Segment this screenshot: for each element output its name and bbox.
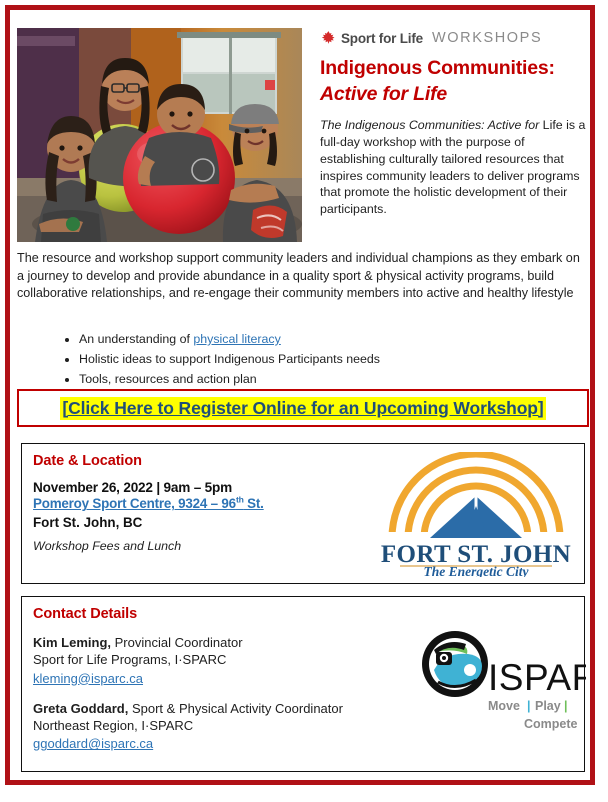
maple-leaf-icon [320,30,337,46]
intro-paragraph: The Indigenous Communities: Active for L… [320,117,592,218]
contact-role-1: Provincial Coordinator [111,635,243,650]
page-title-line2: Active for Life [320,83,592,106]
header-text-column: Sport for Life WORKSHOPS Indigenous Comm… [320,28,592,218]
isparc-wordmark: ISPARC [488,657,586,698]
header-section: Sport for Life WORKSHOPS Indigenous Comm… [17,28,587,246]
list-item: Tools, resources and action plan [79,370,580,389]
sport-for-life-logo: Sport for Life WORKSHOPS [320,28,592,48]
venue-ordinal-suffix: th [236,495,244,505]
contact-email-link-2[interactable]: ggoddard@isparc.ca [33,735,153,752]
venue-text-end: St. [244,496,264,511]
contact-name-2: Greta Goddard, [33,701,128,716]
isparc-logo: ISPARC Move | Play | Compete [418,630,586,742]
isparc-tagline-sep1: | [527,699,531,713]
intro-italic-part: The Indigenous Communities: Active for [320,118,539,132]
physical-literacy-link[interactable]: physical literacy [193,332,280,346]
venue-address-link[interactable]: Pomeroy Sport Centre, 9324 – 96th St. [33,496,264,511]
intro-rest-part: Life is a full-day workshop with the pur… [320,118,585,216]
register-banner[interactable]: [Click Here to Register Online for an Up… [17,389,589,427]
takeaways-list: An understanding of physical literacy Ho… [60,330,580,390]
sport-for-life-wordmark: Sport for Life [341,31,423,46]
photo-children-exercise-balls [17,28,302,242]
flyer-page: Sport for Life WORKSHOPS Indigenous Comm… [0,0,608,802]
bullet-text: Tools, resources and action plan [79,372,257,386]
contact-details-heading: Contact Details [33,606,584,622]
support-paragraph: The resource and workshop support commun… [17,250,589,303]
contact-name-1: Kim Leming, [33,635,111,650]
isparc-tagline-compete: Compete [524,717,578,731]
isparc-tagline-move: Move [488,699,520,713]
fort-st-john-logo: FORT ST. JOHN The Energetic City [378,452,574,577]
workshops-label: WORKSHOPS [432,30,542,46]
fsj-tagline: The Energetic City [424,564,530,577]
list-item: Holistic ideas to support Indigenous Par… [79,350,580,369]
isparc-tagline-sep2: | [564,699,568,713]
contact-role-2: Sport & Physical Activity Coordinator [128,701,343,716]
page-title-line1: Indigenous Communities: [320,57,592,80]
venue-text: Pomeroy Sport Centre, 9324 – 96 [33,496,236,511]
register-online-link[interactable]: [Click Here to Register Online for an Up… [60,397,545,420]
list-item: An understanding of physical literacy [79,330,580,349]
contact-email-link-1[interactable]: kleming@isparc.ca [33,670,143,687]
bullet-text: Holistic ideas to support Indigenous Par… [79,352,380,366]
isparc-tagline-play: Play [535,699,561,713]
bullet-text: An understanding of [79,332,193,346]
